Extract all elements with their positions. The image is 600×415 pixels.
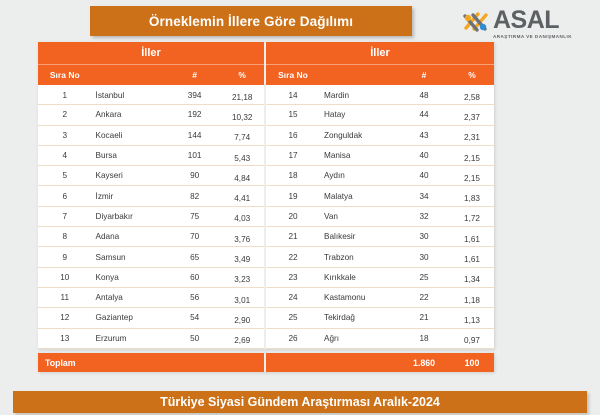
cell-count: 18 xyxy=(398,334,450,343)
cell-city: Kırıkkale xyxy=(318,273,398,282)
cell-count: 54 xyxy=(169,313,221,322)
table-row: 15Hatay442,37 xyxy=(266,105,494,125)
table-row: 10Konya603,23 xyxy=(38,268,264,288)
table-row: 26Ağrı180,97 xyxy=(266,329,494,349)
cell-sirano: 10 xyxy=(38,273,90,282)
asal-logo-subtitle: ARAŞTIRMA VE DANIŞMANLIK xyxy=(493,33,593,40)
cell-sirano: 22 xyxy=(266,253,318,262)
table-total-row: Toplam 1.860 100 xyxy=(38,353,494,372)
cell-count: 82 xyxy=(169,192,221,201)
table-row: 18Aydın402,15 xyxy=(266,166,494,186)
cell-percent: 2,15 xyxy=(450,169,494,183)
cell-count: 22 xyxy=(398,293,450,302)
cell-sirano: 3 xyxy=(38,131,90,140)
cell-city: Konya xyxy=(90,273,169,282)
table-band-left: İller xyxy=(38,42,264,64)
cell-count: 44 xyxy=(398,110,450,119)
cell-city: Bursa xyxy=(90,151,169,160)
cell-sirano: 1 xyxy=(38,91,90,100)
cell-sirano: 24 xyxy=(266,293,318,302)
cell-count: 32 xyxy=(398,212,450,221)
cell-sirano: 11 xyxy=(38,293,90,302)
column-header-sirano: Sıra No xyxy=(38,70,90,80)
cell-count: 56 xyxy=(169,293,221,302)
table-row: 16Zonguldak432,31 xyxy=(266,126,494,146)
cell-count: 40 xyxy=(398,171,450,180)
cell-count: 90 xyxy=(169,171,221,180)
cell-count: 394 xyxy=(169,91,221,100)
cell-percent: 3,49 xyxy=(220,250,264,264)
cell-city: Ağrı xyxy=(318,334,398,343)
cell-city: Antalya xyxy=(90,293,169,302)
table-half-left: İller Sıra No # % 1İstanbul39421,182Anka… xyxy=(38,42,266,349)
total-row-right: 1.860 100 xyxy=(266,353,494,372)
cell-count: 43 xyxy=(398,131,450,140)
column-header-count: # xyxy=(169,70,221,80)
cell-count: 25 xyxy=(398,273,450,282)
table-row: 13Erzurum502,69 xyxy=(38,329,264,349)
page-header: Örneklemin İllere Göre Dağılımı ASAL ARA… xyxy=(0,0,600,44)
asal-zigzag-logo-icon xyxy=(462,9,492,35)
cell-sirano: 19 xyxy=(266,192,318,201)
column-header-pct: % xyxy=(220,70,264,80)
cell-city: Mardin xyxy=(318,91,398,100)
cell-city: Balıkesir xyxy=(318,232,398,241)
table-row: 1İstanbul39421,18 xyxy=(38,85,264,105)
cell-sirano: 8 xyxy=(38,232,90,241)
cell-city: İzmir xyxy=(90,192,169,201)
cell-sirano: 9 xyxy=(38,253,90,262)
cell-percent: 2,58 xyxy=(450,88,494,102)
cell-sirano: 18 xyxy=(266,171,318,180)
cell-count: 192 xyxy=(169,110,221,119)
table-row: 17Manisa402,15 xyxy=(266,146,494,166)
province-distribution-table: İller Sıra No # % 1İstanbul39421,182Anka… xyxy=(38,42,494,349)
cell-city: Hatay xyxy=(318,110,398,119)
table-row: 9Samsun653,49 xyxy=(38,247,264,267)
table-band-right: İller xyxy=(266,42,494,64)
table-row: 23Kırıkkale251,34 xyxy=(266,268,494,288)
cell-city: Ankara xyxy=(90,110,169,119)
cell-percent: 3,76 xyxy=(220,230,264,244)
cell-percent: 4,84 xyxy=(220,169,264,183)
cell-count: 34 xyxy=(398,192,450,201)
cell-city: Diyarbakır xyxy=(90,212,169,221)
table-row: 6İzmir824,41 xyxy=(38,186,264,206)
cell-percent: 2,37 xyxy=(450,108,494,122)
cell-sirano: 7 xyxy=(38,212,90,221)
cell-percent: 0,97 xyxy=(450,331,494,345)
cell-city: Aydın xyxy=(318,171,398,180)
cell-percent: 4,03 xyxy=(220,209,264,223)
cell-sirano: 12 xyxy=(38,313,90,322)
column-header-row-left: Sıra No # % xyxy=(38,64,264,85)
cell-percent: 5,43 xyxy=(220,149,264,163)
cell-percent: 1,61 xyxy=(450,230,494,244)
asal-logo: ASAL ARAŞTIRMA VE DANIŞMANLIK xyxy=(462,8,594,40)
column-header-pct: % xyxy=(450,70,494,80)
total-label: Toplam xyxy=(38,358,76,368)
cell-sirano: 20 xyxy=(266,212,318,221)
table-row: 11Antalya563,01 xyxy=(38,288,264,308)
cell-count: 21 xyxy=(398,313,450,322)
table-row: 4Bursa1015,43 xyxy=(38,146,264,166)
cell-sirano: 16 xyxy=(266,131,318,140)
table-row: 25Tekirdağ211,13 xyxy=(266,308,494,328)
total-count: 1.860 xyxy=(398,358,450,368)
cell-percent: 1,61 xyxy=(450,250,494,264)
asal-logo-text: ASAL ARAŞTIRMA VE DANIŞMANLIK xyxy=(493,8,593,40)
cell-percent: 1,13 xyxy=(450,311,494,325)
column-header-count: # xyxy=(398,70,450,80)
cell-count: 50 xyxy=(169,334,221,343)
cell-city: Zonguldak xyxy=(318,131,398,140)
cell-city: Adana xyxy=(90,232,169,241)
cell-percent: 7,74 xyxy=(220,128,264,142)
cell-count: 40 xyxy=(398,151,450,160)
table-row: 20Van321,72 xyxy=(266,207,494,227)
table-row: 7Diyarbakır754,03 xyxy=(38,207,264,227)
column-header-sirano: Sıra No xyxy=(266,70,318,80)
cell-count: 60 xyxy=(169,273,221,282)
cell-count: 65 xyxy=(169,253,221,262)
table-row: 14Mardin482,58 xyxy=(266,85,494,105)
cell-sirano: 13 xyxy=(38,334,90,343)
cell-city: Gaziantep xyxy=(90,313,169,322)
page-title: Örneklemin İllere Göre Dağılımı xyxy=(149,14,353,29)
cell-sirano: 5 xyxy=(38,171,90,180)
cell-percent: 2,31 xyxy=(450,128,494,142)
cell-count: 101 xyxy=(169,151,221,160)
total-percent: 100 xyxy=(450,358,494,368)
column-header-row-right: Sıra No # % xyxy=(266,64,494,85)
table-row: 21Balıkesir301,61 xyxy=(266,227,494,247)
table-half-right: İller Sıra No # % 14Mardin482,5815Hatay4… xyxy=(266,42,494,349)
table-body-right: 14Mardin482,5815Hatay442,3716Zonguldak43… xyxy=(266,85,494,349)
cell-city: Kastamonu xyxy=(318,293,398,302)
cell-city: Trabzon xyxy=(318,253,398,262)
cell-city: Van xyxy=(318,212,398,221)
table-row: 22Trabzon301,61 xyxy=(266,247,494,267)
page-title-banner: Örneklemin İllere Göre Dağılımı xyxy=(90,6,412,36)
cell-count: 75 xyxy=(169,212,221,221)
cell-sirano: 2 xyxy=(38,110,90,119)
table-row: 5Kayseri904,84 xyxy=(38,166,264,186)
cell-percent: 3,01 xyxy=(220,291,264,305)
cell-percent: 10,32 xyxy=(220,108,264,122)
cell-count: 30 xyxy=(398,232,450,241)
cell-city: Erzurum xyxy=(90,334,169,343)
cell-percent: 1,34 xyxy=(450,270,494,284)
cell-city: Kocaeli xyxy=(90,131,169,140)
cell-sirano: 25 xyxy=(266,313,318,322)
cell-city: Manisa xyxy=(318,151,398,160)
cell-percent: 1,83 xyxy=(450,189,494,203)
table-row: 12Gaziantep542,90 xyxy=(38,308,264,328)
cell-sirano: 4 xyxy=(38,151,90,160)
cell-city: Malatya xyxy=(318,192,398,201)
table-row: 3Kocaeli1447,74 xyxy=(38,126,264,146)
cell-sirano: 21 xyxy=(266,232,318,241)
cell-percent: 3,23 xyxy=(220,270,264,284)
cell-percent: 21,18 xyxy=(220,88,264,102)
cell-city: Samsun xyxy=(90,253,169,262)
cell-percent: 2,90 xyxy=(220,311,264,325)
cell-percent: 2,15 xyxy=(450,149,494,163)
table-row: 2Ankara19210,32 xyxy=(38,105,264,125)
cell-city: Tekirdağ xyxy=(318,313,398,322)
asal-logo-word: ASAL xyxy=(493,8,593,33)
cell-percent: 1,72 xyxy=(450,209,494,223)
cell-sirano: 6 xyxy=(38,192,90,201)
table-row: 19Malatya341,83 xyxy=(266,186,494,206)
table-body-left: 1İstanbul39421,182Ankara19210,323Kocaeli… xyxy=(38,85,264,349)
table-band-label-left: İller xyxy=(141,47,161,59)
footer-banner: Türkiye Siyasi Gündem Araştırması Aralık… xyxy=(13,391,587,413)
table-row: 8Adana703,76 xyxy=(38,227,264,247)
table-row: 24Kastamonu221,18 xyxy=(266,288,494,308)
cell-count: 48 xyxy=(398,91,450,100)
cell-city: Kayseri xyxy=(90,171,169,180)
cell-percent: 2,69 xyxy=(220,331,264,345)
cell-sirano: 14 xyxy=(266,91,318,100)
cell-sirano: 23 xyxy=(266,273,318,282)
total-row-left: Toplam xyxy=(38,353,266,372)
cell-sirano: 17 xyxy=(266,151,318,160)
cell-sirano: 15 xyxy=(266,110,318,119)
cell-count: 30 xyxy=(398,253,450,262)
cell-percent: 1,18 xyxy=(450,291,494,305)
table-band-label-right: İller xyxy=(370,47,390,59)
cell-percent: 4,41 xyxy=(220,189,264,203)
cell-city: İstanbul xyxy=(90,91,169,100)
footer-title: Türkiye Siyasi Gündem Araştırması Aralık… xyxy=(160,395,440,409)
cell-count: 70 xyxy=(169,232,221,241)
cell-count: 144 xyxy=(169,131,221,140)
cell-sirano: 26 xyxy=(266,334,318,343)
